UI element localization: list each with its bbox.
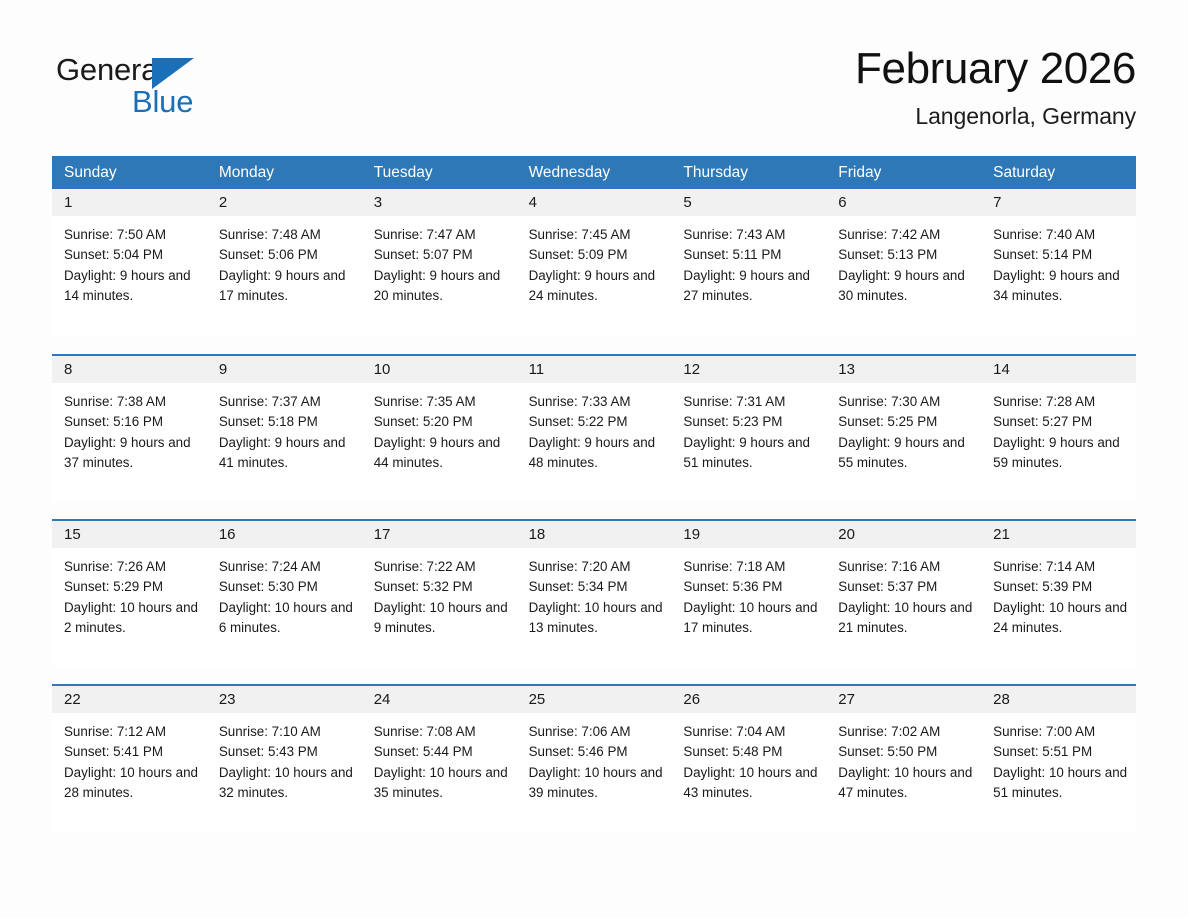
daylight-text: Daylight: 10 hours and 2 minutes. <box>64 598 199 639</box>
daylight-text: Daylight: 9 hours and 30 minutes. <box>838 266 973 307</box>
title-block: February 2026 Langenorla, Germany <box>855 44 1136 130</box>
sunset-text: Sunset: 5:44 PM <box>374 742 509 762</box>
sunset-text: Sunset: 5:06 PM <box>219 245 354 265</box>
day-number: 2 <box>207 189 362 216</box>
day-number: 9 <box>207 356 362 383</box>
sunset-text: Sunset: 5:23 PM <box>683 412 818 432</box>
day-number: 5 <box>671 189 826 216</box>
day-cell[interactable]: 16 Sunrise: 7:24 AM Sunset: 5:30 PM Dayl… <box>207 521 362 667</box>
sunset-text: Sunset: 5:13 PM <box>838 245 973 265</box>
location-subtitle: Langenorla, Germany <box>855 103 1136 130</box>
daylight-text: Daylight: 9 hours and 37 minutes. <box>64 433 199 474</box>
sunrise-text: Sunrise: 7:45 AM <box>529 225 664 245</box>
day-number: 8 <box>52 356 207 383</box>
day-number: 26 <box>671 686 826 713</box>
day-cell[interactable]: 21 Sunrise: 7:14 AM Sunset: 5:39 PM Dayl… <box>981 521 1136 667</box>
day-info: Sunrise: 7:02 AM Sunset: 5:50 PM Dayligh… <box>826 713 981 803</box>
weekday-header-friday: Friday <box>826 156 981 189</box>
day-cell[interactable]: 27 Sunrise: 7:02 AM Sunset: 5:50 PM Dayl… <box>826 686 981 832</box>
sunset-text: Sunset: 5:20 PM <box>374 412 509 432</box>
day-cell[interactable]: 12 Sunrise: 7:31 AM Sunset: 5:23 PM Dayl… <box>671 356 826 502</box>
day-info: Sunrise: 7:26 AM Sunset: 5:29 PM Dayligh… <box>52 548 207 638</box>
day-info: Sunrise: 7:20 AM Sunset: 5:34 PM Dayligh… <box>517 548 672 638</box>
day-info: Sunrise: 7:42 AM Sunset: 5:13 PM Dayligh… <box>826 216 981 306</box>
daylight-text: Daylight: 9 hours and 59 minutes. <box>993 433 1128 474</box>
sunset-text: Sunset: 5:29 PM <box>64 577 199 597</box>
daylight-text: Daylight: 9 hours and 41 minutes. <box>219 433 354 474</box>
day-cell[interactable]: 25 Sunrise: 7:06 AM Sunset: 5:46 PM Dayl… <box>517 686 672 832</box>
daylight-text: Daylight: 9 hours and 20 minutes. <box>374 266 509 307</box>
sunrise-text: Sunrise: 7:30 AM <box>838 392 973 412</box>
sunset-text: Sunset: 5:16 PM <box>64 412 199 432</box>
day-number: 7 <box>981 189 1136 216</box>
day-cell[interactable]: 8 Sunrise: 7:38 AM Sunset: 5:16 PM Dayli… <box>52 356 207 502</box>
day-info: Sunrise: 7:33 AM Sunset: 5:22 PM Dayligh… <box>517 383 672 473</box>
day-info: Sunrise: 7:08 AM Sunset: 5:44 PM Dayligh… <box>362 713 517 803</box>
day-cell[interactable]: 20 Sunrise: 7:16 AM Sunset: 5:37 PM Dayl… <box>826 521 981 667</box>
day-info: Sunrise: 7:31 AM Sunset: 5:23 PM Dayligh… <box>671 383 826 473</box>
day-number: 21 <box>981 521 1136 548</box>
weekday-header-tuesday: Tuesday <box>362 156 517 189</box>
day-info: Sunrise: 7:06 AM Sunset: 5:46 PM Dayligh… <box>517 713 672 803</box>
day-info: Sunrise: 7:14 AM Sunset: 5:39 PM Dayligh… <box>981 548 1136 638</box>
day-cell[interactable]: 13 Sunrise: 7:30 AM Sunset: 5:25 PM Dayl… <box>826 356 981 502</box>
day-number: 15 <box>52 521 207 548</box>
day-number: 18 <box>517 521 672 548</box>
day-cell[interactable]: 10 Sunrise: 7:35 AM Sunset: 5:20 PM Dayl… <box>362 356 517 502</box>
daylight-text: Daylight: 10 hours and 35 minutes. <box>374 763 509 804</box>
day-number: 4 <box>517 189 672 216</box>
daylight-text: Daylight: 9 hours and 55 minutes. <box>838 433 973 474</box>
sunrise-text: Sunrise: 7:31 AM <box>683 392 818 412</box>
calendar-grid: Sunday Monday Tuesday Wednesday Thursday… <box>52 156 1136 832</box>
daylight-text: Daylight: 9 hours and 17 minutes. <box>219 266 354 307</box>
sunset-text: Sunset: 5:41 PM <box>64 742 199 762</box>
day-info: Sunrise: 7:50 AM Sunset: 5:04 PM Dayligh… <box>52 216 207 306</box>
day-number: 14 <box>981 356 1136 383</box>
daylight-text: Daylight: 9 hours and 27 minutes. <box>683 266 818 307</box>
sunset-text: Sunset: 5:07 PM <box>374 245 509 265</box>
day-info: Sunrise: 7:28 AM Sunset: 5:27 PM Dayligh… <box>981 383 1136 473</box>
day-cell[interactable]: 4 Sunrise: 7:45 AM Sunset: 5:09 PM Dayli… <box>517 189 672 337</box>
day-info: Sunrise: 7:16 AM Sunset: 5:37 PM Dayligh… <box>826 548 981 638</box>
day-cell[interactable]: 24 Sunrise: 7:08 AM Sunset: 5:44 PM Dayl… <box>362 686 517 832</box>
sunrise-text: Sunrise: 7:35 AM <box>374 392 509 412</box>
week-row: 1 Sunrise: 7:50 AM Sunset: 5:04 PM Dayli… <box>52 189 1136 337</box>
day-number: 16 <box>207 521 362 548</box>
weekday-header-saturday: Saturday <box>981 156 1136 189</box>
sunrise-text: Sunrise: 7:40 AM <box>993 225 1128 245</box>
day-number: 1 <box>52 189 207 216</box>
page-title: February 2026 <box>855 44 1136 93</box>
daylight-text: Daylight: 10 hours and 39 minutes. <box>529 763 664 804</box>
day-info: Sunrise: 7:22 AM Sunset: 5:32 PM Dayligh… <box>362 548 517 638</box>
day-number: 11 <box>517 356 672 383</box>
daylight-text: Daylight: 10 hours and 24 minutes. <box>993 598 1128 639</box>
sunset-text: Sunset: 5:09 PM <box>529 245 664 265</box>
day-number: 20 <box>826 521 981 548</box>
weekday-header-wednesday: Wednesday <box>517 156 672 189</box>
day-info: Sunrise: 7:18 AM Sunset: 5:36 PM Dayligh… <box>671 548 826 638</box>
week-row: 22 Sunrise: 7:12 AM Sunset: 5:41 PM Dayl… <box>52 684 1136 832</box>
sunrise-text: Sunrise: 7:37 AM <box>219 392 354 412</box>
daylight-text: Daylight: 10 hours and 47 minutes. <box>838 763 973 804</box>
day-number: 19 <box>671 521 826 548</box>
sunset-text: Sunset: 5:32 PM <box>374 577 509 597</box>
day-cell[interactable]: 19 Sunrise: 7:18 AM Sunset: 5:36 PM Dayl… <box>671 521 826 667</box>
sunrise-text: Sunrise: 7:50 AM <box>64 225 199 245</box>
day-cell[interactable]: 7 Sunrise: 7:40 AM Sunset: 5:14 PM Dayli… <box>981 189 1136 337</box>
day-cell[interactable]: 22 Sunrise: 7:12 AM Sunset: 5:41 PM Dayl… <box>52 686 207 832</box>
day-info: Sunrise: 7:30 AM Sunset: 5:25 PM Dayligh… <box>826 383 981 473</box>
daylight-text: Daylight: 9 hours and 24 minutes. <box>529 266 664 307</box>
sunset-text: Sunset: 5:37 PM <box>838 577 973 597</box>
day-cell[interactable]: 9 Sunrise: 7:37 AM Sunset: 5:18 PM Dayli… <box>207 356 362 502</box>
calendar-page: General Blue February 2026 Langenorla, G… <box>0 0 1188 918</box>
day-number: 27 <box>826 686 981 713</box>
sunrise-text: Sunrise: 7:42 AM <box>838 225 973 245</box>
day-info: Sunrise: 7:00 AM Sunset: 5:51 PM Dayligh… <box>981 713 1136 803</box>
sunrise-text: Sunrise: 7:12 AM <box>64 722 199 742</box>
sunrise-text: Sunrise: 7:47 AM <box>374 225 509 245</box>
day-cell[interactable]: 28 Sunrise: 7:00 AM Sunset: 5:51 PM Dayl… <box>981 686 1136 832</box>
week-row: 8 Sunrise: 7:38 AM Sunset: 5:16 PM Dayli… <box>52 354 1136 502</box>
day-cell[interactable]: 14 Sunrise: 7:28 AM Sunset: 5:27 PM Dayl… <box>981 356 1136 502</box>
sunset-text: Sunset: 5:22 PM <box>529 412 664 432</box>
day-info: Sunrise: 7:43 AM Sunset: 5:11 PM Dayligh… <box>671 216 826 306</box>
sunset-text: Sunset: 5:11 PM <box>683 245 818 265</box>
sunset-text: Sunset: 5:14 PM <box>993 245 1128 265</box>
daylight-text: Daylight: 9 hours and 44 minutes. <box>374 433 509 474</box>
day-cell[interactable]: 18 Sunrise: 7:20 AM Sunset: 5:34 PM Dayl… <box>517 521 672 667</box>
daylight-text: Daylight: 9 hours and 51 minutes. <box>683 433 818 474</box>
daylight-text: Daylight: 10 hours and 43 minutes. <box>683 763 818 804</box>
day-cell[interactable]: 6 Sunrise: 7:42 AM Sunset: 5:13 PM Dayli… <box>826 189 981 337</box>
sunset-text: Sunset: 5:48 PM <box>683 742 818 762</box>
sunrise-text: Sunrise: 7:02 AM <box>838 722 973 742</box>
sunset-text: Sunset: 5:43 PM <box>219 742 354 762</box>
sunrise-text: Sunrise: 7:10 AM <box>219 722 354 742</box>
weekday-header-monday: Monday <box>207 156 362 189</box>
sunrise-text: Sunrise: 7:18 AM <box>683 557 818 577</box>
sunset-text: Sunset: 5:25 PM <box>838 412 973 432</box>
logo-text-general: General <box>56 54 165 85</box>
weekday-header-thursday: Thursday <box>671 156 826 189</box>
day-cell[interactable]: 15 Sunrise: 7:26 AM Sunset: 5:29 PM Dayl… <box>52 521 207 667</box>
day-cell[interactable]: 5 Sunrise: 7:43 AM Sunset: 5:11 PM Dayli… <box>671 189 826 337</box>
sunrise-text: Sunrise: 7:06 AM <box>529 722 664 742</box>
sunrise-text: Sunrise: 7:28 AM <box>993 392 1128 412</box>
day-info: Sunrise: 7:24 AM Sunset: 5:30 PM Dayligh… <box>207 548 362 638</box>
weekday-header-row: Sunday Monday Tuesday Wednesday Thursday… <box>52 156 1136 189</box>
sunrise-text: Sunrise: 7:16 AM <box>838 557 973 577</box>
sunrise-text: Sunrise: 7:48 AM <box>219 225 354 245</box>
daylight-text: Daylight: 10 hours and 17 minutes. <box>683 598 818 639</box>
day-info: Sunrise: 7:12 AM Sunset: 5:41 PM Dayligh… <box>52 713 207 803</box>
sunrise-text: Sunrise: 7:14 AM <box>993 557 1128 577</box>
daylight-text: Daylight: 10 hours and 6 minutes. <box>219 598 354 639</box>
sunset-text: Sunset: 5:46 PM <box>529 742 664 762</box>
day-info: Sunrise: 7:40 AM Sunset: 5:14 PM Dayligh… <box>981 216 1136 306</box>
day-number: 6 <box>826 189 981 216</box>
daylight-text: Daylight: 9 hours and 34 minutes. <box>993 266 1128 307</box>
daylight-text: Daylight: 10 hours and 32 minutes. <box>219 763 354 804</box>
sunset-text: Sunset: 5:34 PM <box>529 577 664 597</box>
day-info: Sunrise: 7:04 AM Sunset: 5:48 PM Dayligh… <box>671 713 826 803</box>
sunrise-text: Sunrise: 7:24 AM <box>219 557 354 577</box>
daylight-text: Daylight: 10 hours and 21 minutes. <box>838 598 973 639</box>
day-cell[interactable]: 11 Sunrise: 7:33 AM Sunset: 5:22 PM Dayl… <box>517 356 672 502</box>
day-info: Sunrise: 7:35 AM Sunset: 5:20 PM Dayligh… <box>362 383 517 473</box>
daylight-text: Daylight: 10 hours and 9 minutes. <box>374 598 509 639</box>
day-cell[interactable]: 2 Sunrise: 7:48 AM Sunset: 5:06 PM Dayli… <box>207 189 362 337</box>
page-header: General Blue February 2026 Langenorla, G… <box>0 0 1188 112</box>
day-number: 25 <box>517 686 672 713</box>
day-number: 13 <box>826 356 981 383</box>
daylight-text: Daylight: 9 hours and 48 minutes. <box>529 433 664 474</box>
day-cell[interactable]: 23 Sunrise: 7:10 AM Sunset: 5:43 PM Dayl… <box>207 686 362 832</box>
sunrise-text: Sunrise: 7:43 AM <box>683 225 818 245</box>
sunset-text: Sunset: 5:39 PM <box>993 577 1128 597</box>
sunrise-text: Sunrise: 7:08 AM <box>374 722 509 742</box>
sunrise-text: Sunrise: 7:38 AM <box>64 392 199 412</box>
sunrise-text: Sunrise: 7:04 AM <box>683 722 818 742</box>
day-info: Sunrise: 7:37 AM Sunset: 5:18 PM Dayligh… <box>207 383 362 473</box>
daylight-text: Daylight: 9 hours and 14 minutes. <box>64 266 199 307</box>
day-cell[interactable]: 26 Sunrise: 7:04 AM Sunset: 5:48 PM Dayl… <box>671 686 826 832</box>
sunrise-text: Sunrise: 7:00 AM <box>993 722 1128 742</box>
day-cell[interactable]: 17 Sunrise: 7:22 AM Sunset: 5:32 PM Dayl… <box>362 521 517 667</box>
sunset-text: Sunset: 5:51 PM <box>993 742 1128 762</box>
day-info: Sunrise: 7:45 AM Sunset: 5:09 PM Dayligh… <box>517 216 672 306</box>
sunset-text: Sunset: 5:36 PM <box>683 577 818 597</box>
daylight-text: Daylight: 10 hours and 51 minutes. <box>993 763 1128 804</box>
sunset-text: Sunset: 5:50 PM <box>838 742 973 762</box>
sunset-text: Sunset: 5:18 PM <box>219 412 354 432</box>
sunset-text: Sunset: 5:27 PM <box>993 412 1128 432</box>
sunrise-text: Sunrise: 7:26 AM <box>64 557 199 577</box>
day-number: 22 <box>52 686 207 713</box>
weekday-header-sunday: Sunday <box>52 156 207 189</box>
day-info: Sunrise: 7:38 AM Sunset: 5:16 PM Dayligh… <box>52 383 207 473</box>
day-info: Sunrise: 7:48 AM Sunset: 5:06 PM Dayligh… <box>207 216 362 306</box>
day-cell[interactable]: 3 Sunrise: 7:47 AM Sunset: 5:07 PM Dayli… <box>362 189 517 337</box>
sunrise-text: Sunrise: 7:20 AM <box>529 557 664 577</box>
week-row: 15 Sunrise: 7:26 AM Sunset: 5:29 PM Dayl… <box>52 519 1136 667</box>
daylight-text: Daylight: 10 hours and 13 minutes. <box>529 598 664 639</box>
day-number: 17 <box>362 521 517 548</box>
day-info: Sunrise: 7:10 AM Sunset: 5:43 PM Dayligh… <box>207 713 362 803</box>
day-cell[interactable]: 1 Sunrise: 7:50 AM Sunset: 5:04 PM Dayli… <box>52 189 207 337</box>
daylight-text: Daylight: 10 hours and 28 minutes. <box>64 763 199 804</box>
logo-text-blue: Blue <box>132 86 193 117</box>
sunrise-text: Sunrise: 7:22 AM <box>374 557 509 577</box>
sunset-text: Sunset: 5:30 PM <box>219 577 354 597</box>
sunset-text: Sunset: 5:04 PM <box>64 245 199 265</box>
day-number: 23 <box>207 686 362 713</box>
day-info: Sunrise: 7:47 AM Sunset: 5:07 PM Dayligh… <box>362 216 517 306</box>
day-number: 10 <box>362 356 517 383</box>
day-number: 24 <box>362 686 517 713</box>
day-number: 28 <box>981 686 1136 713</box>
sunrise-text: Sunrise: 7:33 AM <box>529 392 664 412</box>
day-number: 3 <box>362 189 517 216</box>
generalblue-logo[interactable]: General Blue <box>56 44 206 118</box>
day-number: 12 <box>671 356 826 383</box>
